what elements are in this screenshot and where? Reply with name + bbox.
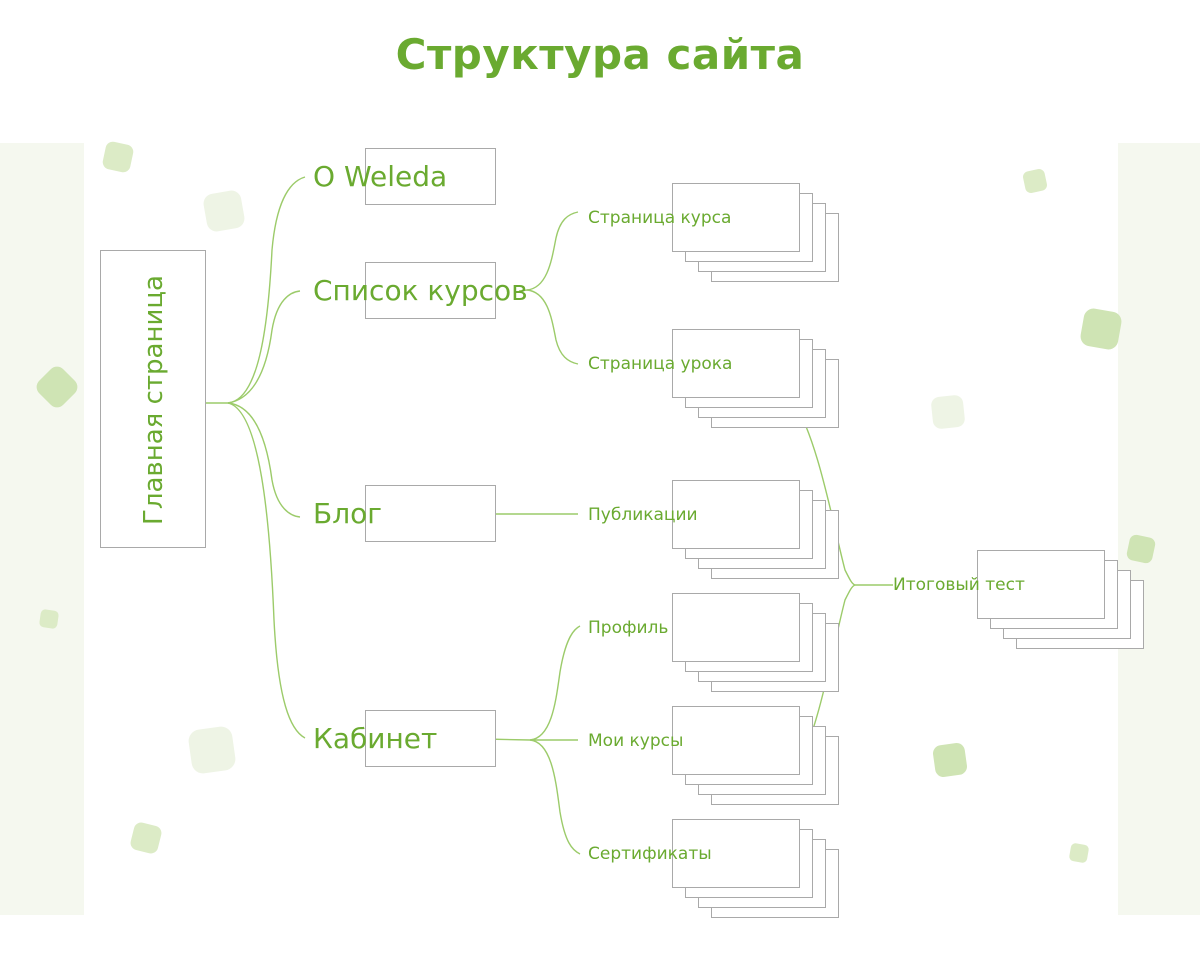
node-label: Блог: [313, 485, 382, 542]
node-label: Страница урока: [588, 329, 732, 398]
node-label: Страница курса: [588, 183, 731, 252]
node-card-front: [672, 593, 800, 662]
node-card-stack: [672, 706, 838, 806]
node-card-front: [672, 706, 800, 775]
node-label: Публикации: [588, 480, 698, 549]
node-label: Список курсов: [313, 262, 528, 319]
node-box: [365, 485, 496, 542]
node-label: Профиль: [588, 593, 668, 662]
node-label: Мои курсы: [588, 706, 683, 775]
node-card-stack: [672, 593, 838, 693]
node-label: О Weleda: [313, 148, 447, 205]
page-title: Структура сайта: [0, 30, 1200, 79]
diagram-canvas: Структура сайта Главная страница О Weled…: [0, 0, 1200, 975]
node-root-label: Главная страница: [101, 251, 207, 549]
node-label: Итоговый тест: [893, 550, 1025, 619]
node-label: Сертификаты: [588, 819, 712, 888]
node-label: Кабинет: [313, 710, 437, 767]
node-root[interactable]: Главная страница: [100, 250, 206, 548]
